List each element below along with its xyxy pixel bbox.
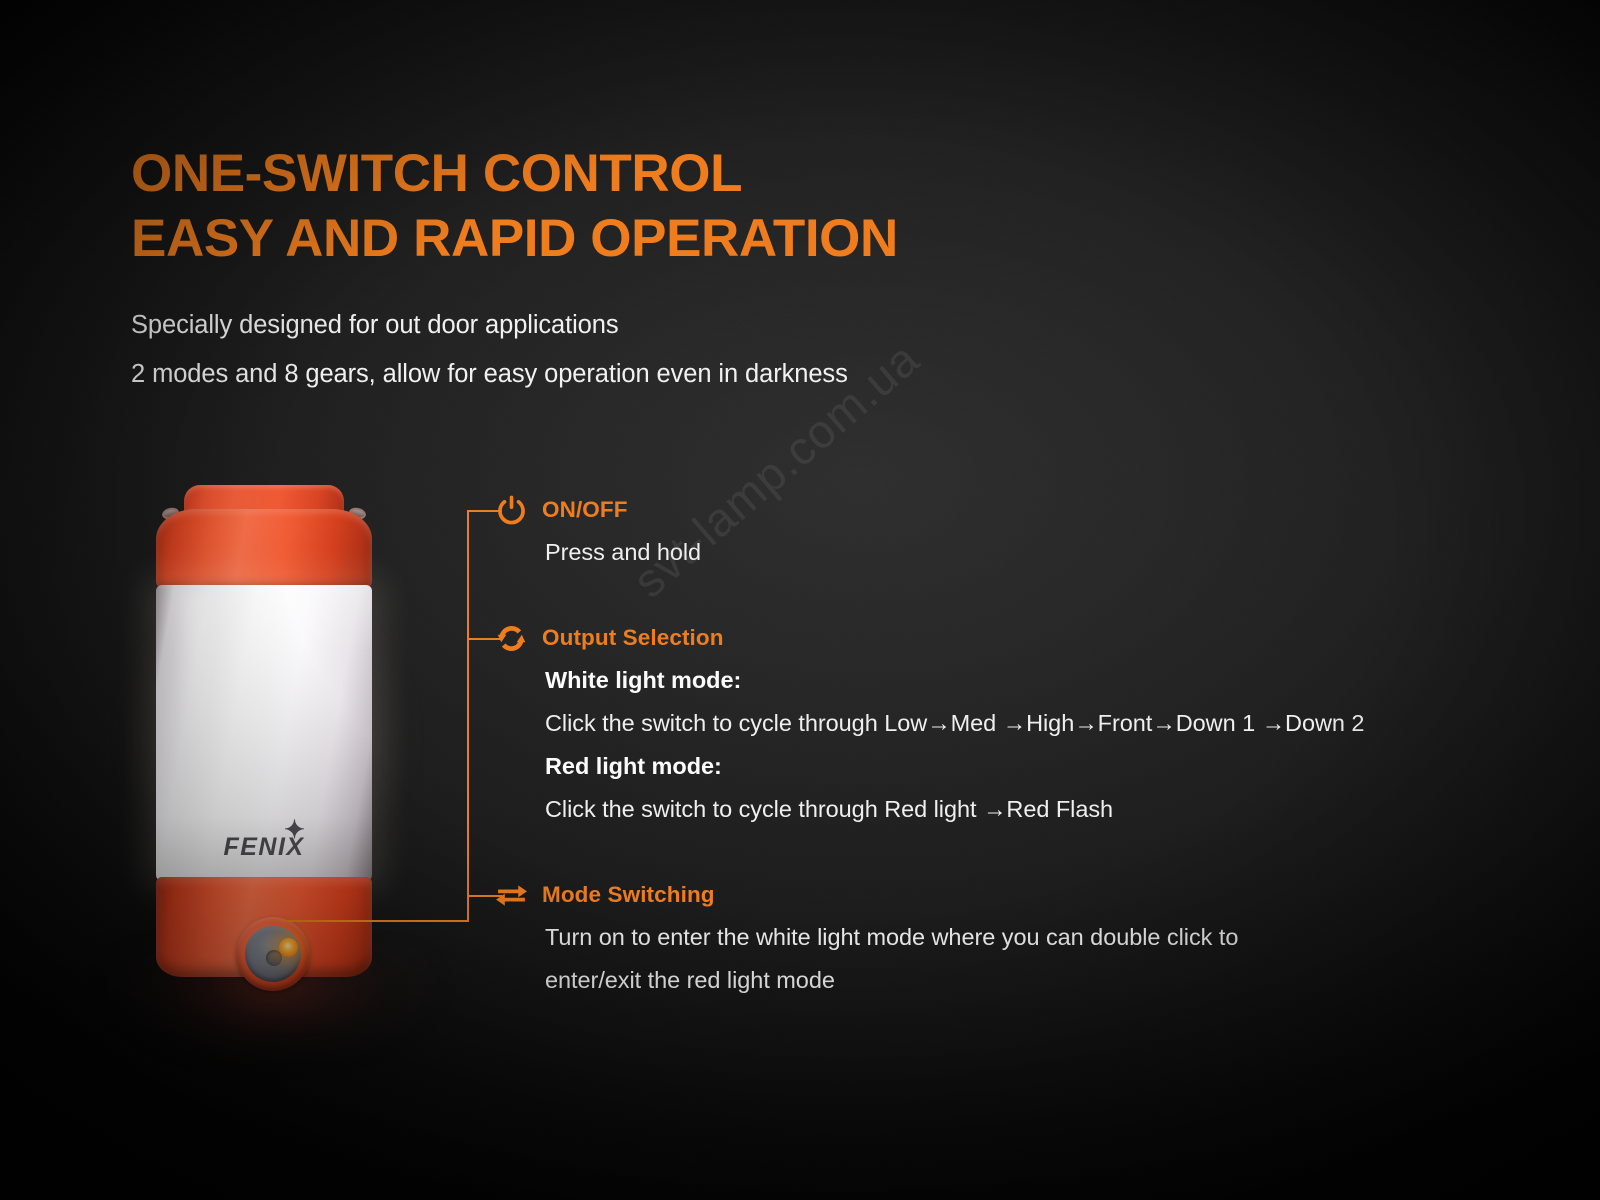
fenix-star-icon: ✦ <box>284 820 304 840</box>
lantern-switch-button[interactable] <box>245 926 301 982</box>
cycle-refresh-icon <box>495 622 528 655</box>
callout-mode-switching: Mode Switching Turn on to enter the whit… <box>495 874 1238 1002</box>
subheading-line-2: 2 modes and 8 gears, allow for easy oper… <box>131 360 848 389</box>
callout-onoff-line-1: Press and hold <box>545 531 701 574</box>
product-image-lantern: ✦ FENIX <box>148 485 380 977</box>
callout-onoff: ON/OFF Press and hold <box>495 489 701 574</box>
callout-onoff-header: ON/OFF <box>495 489 701 531</box>
callout-output-line-1: White light mode: <box>545 659 1364 702</box>
diffuser-highlight <box>184 591 210 827</box>
page-title: ONE-SWITCH CONTROL EASY AND RAPID OPERAT… <box>131 142 898 271</box>
subheading-line-1: Specially designed for out door applicat… <box>131 311 619 340</box>
brand-logo: ✦ FENIX <box>156 833 372 862</box>
callout-output-line-2: Click the switch to cycle through Low→Me… <box>545 702 1364 745</box>
page-title-line-2: EASY AND RAPID OPERATION <box>131 207 898 272</box>
callout-output-header: Output Selection <box>495 617 1364 659</box>
callout-output-selection: Output Selection White light mode: Click… <box>495 617 1364 831</box>
callout-line-vertical <box>467 510 469 922</box>
swap-arrows-icon <box>495 879 528 912</box>
lantern-upper-collar <box>156 509 372 589</box>
callout-mode-line-2: enter/exit the red light mode <box>545 959 1238 1002</box>
switch-indicator-led <box>279 938 298 957</box>
callout-line-from-switch <box>281 920 469 922</box>
callout-onoff-label: ON/OFF <box>542 497 628 523</box>
slide-canvas: ONE-SWITCH CONTROL EASY AND RAPID OPERAT… <box>0 0 1600 1200</box>
lantern-switch-bezel <box>236 917 310 991</box>
callout-output-line-4: Click the switch to cycle through Red li… <box>545 788 1364 831</box>
callout-output-line-3: Red light mode: <box>545 745 1364 788</box>
callout-mode-header: Mode Switching <box>495 874 1238 916</box>
power-icon <box>495 494 528 527</box>
callout-output-label: Output Selection <box>542 625 724 651</box>
page-title-line-1: ONE-SWITCH CONTROL <box>131 144 742 203</box>
callout-mode-line-1: Turn on to enter the white light mode wh… <box>545 916 1238 959</box>
callout-mode-label: Mode Switching <box>542 882 715 908</box>
